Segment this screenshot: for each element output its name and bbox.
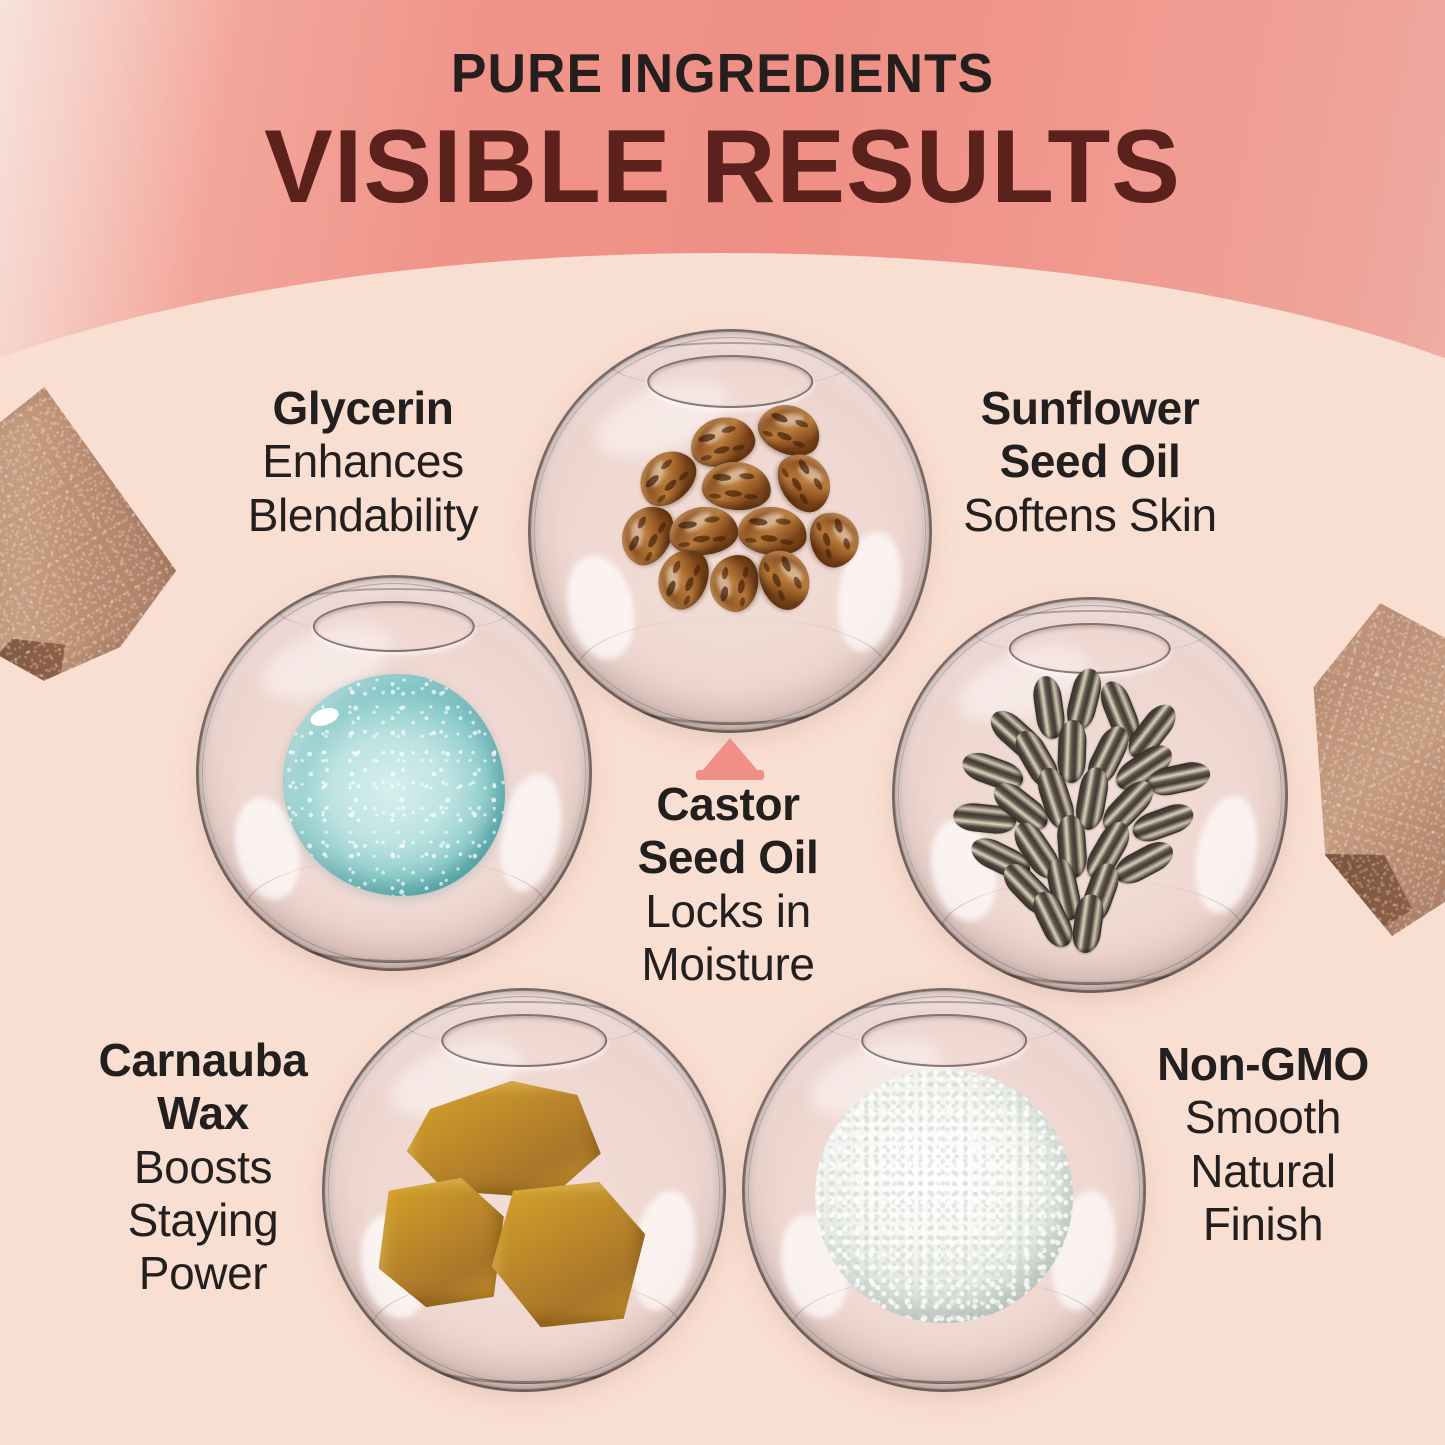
castor-pointer-triangle [696, 738, 764, 778]
swatch-shadow-edge [1294, 836, 1425, 949]
glycerin-desc-line-1: Enhances [168, 435, 558, 488]
wax-desc-line-1: Boosts [48, 1141, 358, 1194]
castor-title-line-1: Castor [578, 778, 878, 831]
powder-mound [815, 1069, 1074, 1324]
infographic-canvas: PURE INGREDIENTS VISIBLE RESULTS [0, 0, 1445, 1445]
nongmo-desc-line-1: Smooth [1108, 1091, 1418, 1144]
nongmo-desc-line-2: Natural [1108, 1145, 1418, 1198]
ingredient-label-glycerin: Glycerin Enhances Blendability [168, 382, 558, 542]
castor-title-line-2: Seed Oil [578, 831, 878, 884]
ingredient-bubble-carnauba-wax [322, 988, 726, 1392]
white-powder-icon [742, 988, 1146, 1392]
glycerin-title: Glycerin [168, 382, 558, 435]
bronze-makeup-swatch-left [0, 377, 195, 720]
glycerin-gel-icon [196, 575, 592, 971]
teal-gel-blob [283, 674, 505, 896]
wax-desc-line-3: Power [48, 1247, 358, 1300]
wax-title-line-1: Carnauba [48, 1034, 358, 1087]
wax-title-line-2: Wax [48, 1087, 358, 1140]
sunflower-title-line-1: Sunflower [900, 382, 1280, 435]
wax-chunk [492, 1182, 646, 1327]
gel-micro-bubbles [283, 674, 505, 896]
header-banner [0, 0, 1445, 380]
nongmo-title: Non-GMO [1108, 1038, 1418, 1091]
powder-grain-texture [815, 1069, 1074, 1324]
sunflower-desc-line-1: Softens Skin [900, 489, 1280, 542]
ingredient-bubble-sunflower [892, 597, 1288, 993]
ingredient-label-non-gmo: Non-GMO Smooth Natural Finish [1108, 1038, 1418, 1251]
wax-desc-line-2: Staying [48, 1194, 358, 1247]
ingredient-bubble-non-gmo [742, 988, 1146, 1392]
sunflower-seeds-icon [892, 597, 1288, 993]
wax-chunk [407, 1081, 601, 1198]
castor-desc-line-2: Moisture [578, 938, 878, 991]
wax-chunks-icon [322, 988, 726, 1392]
swatch-shadow-edge [0, 617, 83, 730]
nongmo-desc-line-3: Finish [1108, 1198, 1418, 1251]
sunflower-title-line-2: Seed Oil [900, 435, 1280, 488]
ingredient-label-sunflower: Sunflower Seed Oil Softens Skin [900, 382, 1280, 542]
wax-chunk [379, 1178, 504, 1307]
glycerin-desc-line-2: Blendability [168, 489, 558, 542]
castor-desc-line-1: Locks in [578, 885, 878, 938]
ingredient-label-carnauba-wax: Carnauba Wax Boosts Staying Power [48, 1034, 358, 1301]
ingredient-label-castor: Castor Seed Oil Locks in Moisture [578, 778, 878, 991]
ingredient-bubble-glycerin [196, 575, 592, 971]
